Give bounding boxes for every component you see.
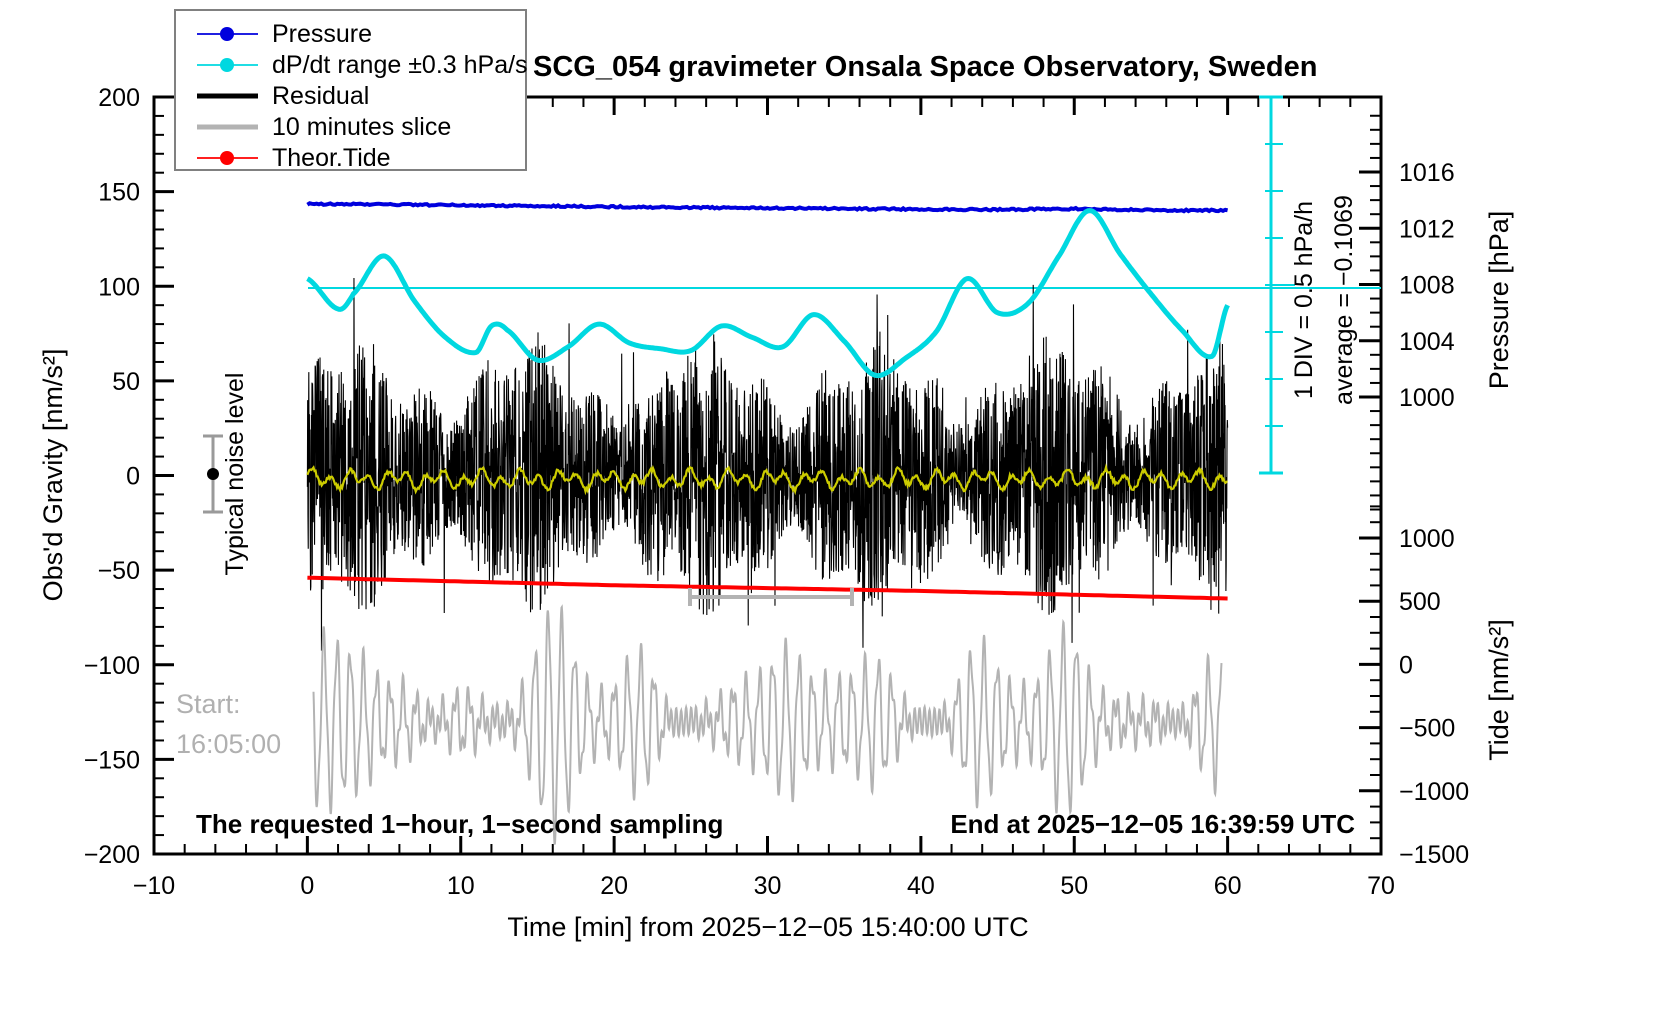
right-tide-tick-label: 1000 — [1399, 525, 1455, 553]
right-tide-tick-label: −1000 — [1399, 778, 1469, 806]
right-pressure-tick-label: 1008 — [1399, 272, 1455, 300]
y-tick-label: 150 — [98, 179, 140, 207]
x-tick-label: −10 — [133, 872, 175, 900]
x-tick-label: 20 — [600, 872, 628, 900]
y-tick-label: −200 — [84, 841, 140, 869]
right-pressure-tick-label: 1004 — [1399, 328, 1455, 356]
start-label: Start: — [176, 689, 241, 719]
gravimeter-plot-page: −10010203040506070 200150100500−50−100−1… — [0, 0, 1676, 1020]
footer-right-text: End at 2025−12−05 16:39:59 UTC — [950, 809, 1355, 839]
y-tick-label: −50 — [98, 557, 140, 585]
right-tide-tick-label: 0 — [1399, 651, 1413, 679]
noise-level-label: Typical noise level — [221, 373, 249, 576]
right-tide-tick-label: −500 — [1399, 715, 1455, 743]
legend-label: Theor.Tide — [272, 144, 391, 172]
legend-label: Residual — [272, 82, 369, 110]
legend-marker — [220, 27, 234, 41]
right-tide-tick-label: 500 — [1399, 588, 1441, 616]
dpdt-scale-annotation: 1 DIV = 0.5 hPa/h — [1290, 201, 1318, 399]
x-tick-label: 0 — [300, 872, 314, 900]
right-tide-tick-label: −1500 — [1399, 841, 1469, 869]
y-tick-label: −150 — [84, 746, 140, 774]
gravimeter-chart: −10010203040506070 200150100500−50−100−1… — [0, 0, 1676, 1020]
right-pressure-tick-label: 1016 — [1399, 159, 1455, 187]
y-axis-title: Obs'd Gravity [nm/s²] — [38, 349, 68, 602]
y-tick-label: 0 — [126, 463, 140, 491]
legend-label: dP/dt range ±0.3 hPa/s — [272, 51, 528, 79]
x-tick-label: 50 — [1060, 872, 1088, 900]
y-tick-label: 50 — [112, 368, 140, 396]
start-time: 16:05:00 — [176, 729, 281, 759]
legend-marker — [220, 151, 234, 165]
x-tick-label: 70 — [1367, 872, 1395, 900]
right-pressure-tick-label: 1000 — [1399, 384, 1455, 412]
x-tick-label: 40 — [907, 872, 935, 900]
x-tick-label: 10 — [447, 872, 475, 900]
chart-title: SCG_054 gravimeter Onsala Space Observat… — [533, 51, 1317, 83]
x-tick-label: 60 — [1214, 872, 1242, 900]
legend-label: 10 minutes slice — [272, 113, 451, 141]
y-tick-label: 200 — [98, 84, 140, 112]
y-tick-label: −100 — [84, 652, 140, 680]
y-tick-label: 100 — [98, 273, 140, 301]
legend-label: Pressure — [272, 20, 372, 48]
x-tick-label: 30 — [754, 872, 782, 900]
dpdt-average-annotation: average = −0.1069 — [1330, 195, 1358, 405]
right-pressure-axis-title: Pressure [hPa] — [1484, 211, 1514, 390]
right-pressure-tick-label: 1012 — [1399, 215, 1455, 243]
legend[interactable]: PressuredP/dt range ±0.3 hPa/sResidual10… — [175, 10, 528, 172]
footer-left-text: The requested 1−hour, 1−second sampling — [196, 809, 723, 839]
x-axis-title: Time [min] from 2025−12−05 15:40:00 UTC — [507, 912, 1028, 942]
legend-marker — [220, 58, 234, 72]
right-tide-axis-title: Tide [nm/s²] — [1484, 619, 1514, 761]
